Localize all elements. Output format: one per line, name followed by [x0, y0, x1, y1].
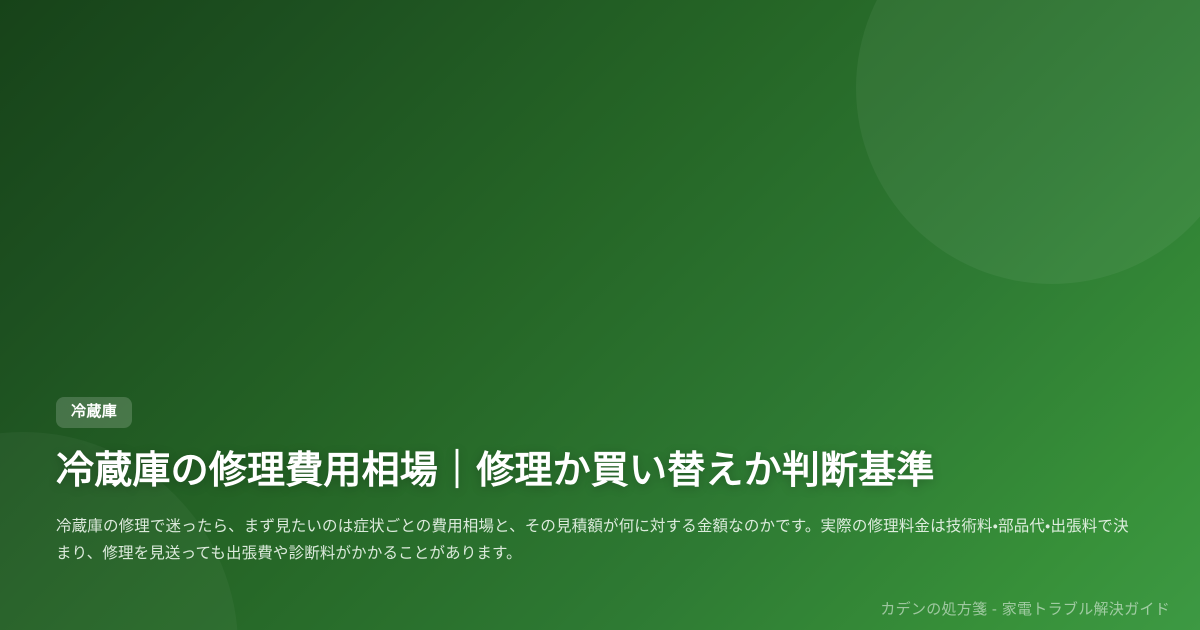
og-share-card: 冷蔵庫 冷蔵庫の修理費用相場｜修理か買い替えか判断基準 冷蔵庫の修理で迷ったら、… — [0, 0, 1200, 630]
page-description: 冷蔵庫の修理で迷ったら、まず見たいのは症状ごとの費用相場と、その見積額が何に対す… — [56, 513, 1131, 568]
decorative-circle-top-right — [856, 0, 1200, 284]
category-badge: 冷蔵庫 — [56, 397, 132, 428]
site-branding-footer: カデンの処方箋 - 家電トラブル解決ガイド — [880, 599, 1170, 620]
card-content: 冷蔵庫 冷蔵庫の修理費用相場｜修理か買い替えか判断基準 冷蔵庫の修理で迷ったら、… — [56, 397, 1144, 568]
page-title: 冷蔵庫の修理費用相場｜修理か買い替えか判断基準 — [56, 447, 1144, 496]
